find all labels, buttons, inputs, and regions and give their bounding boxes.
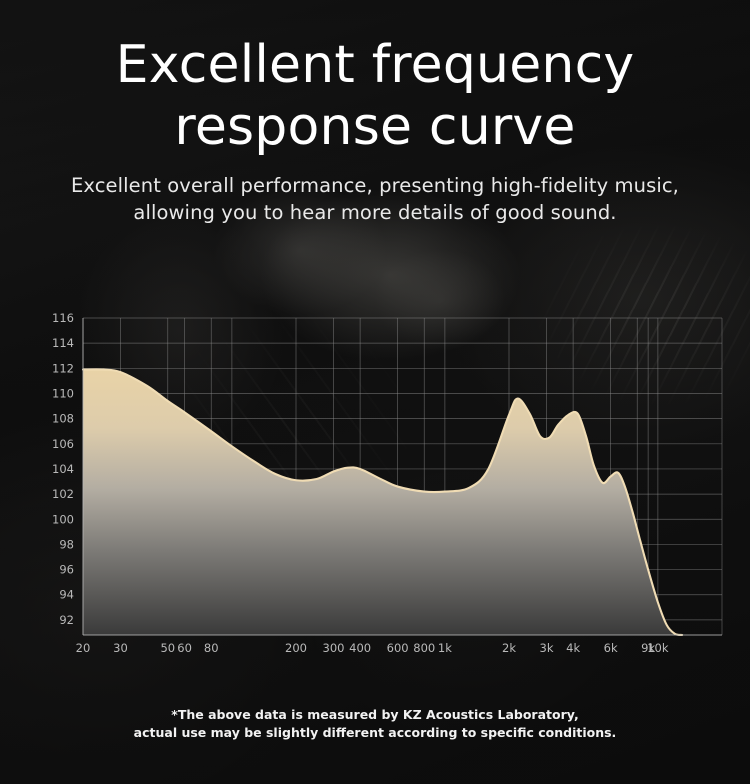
footnote-line-1: *The above data is measured by KZ Acoust… [0, 706, 750, 724]
y-tick-label: 104 [52, 462, 74, 476]
frequency-response-chart: 11611411211010810610410210098969492 2030… [0, 300, 750, 660]
x-tick-label: 10k [647, 641, 669, 655]
x-tick-label: 800 [413, 641, 435, 655]
y-tick-label: 102 [52, 487, 74, 501]
x-tick-label: 20 [76, 641, 91, 655]
footnote-line-2: actual use may be slightly different acc… [0, 724, 750, 742]
x-tick-label: 4k [566, 641, 580, 655]
x-tick-label: 30 [113, 641, 128, 655]
x-tick-label: 80 [204, 641, 219, 655]
y-tick-label: 96 [59, 563, 74, 577]
subtitle-line-2: allowing you to hear more details of goo… [0, 199, 750, 226]
x-tick-label: 6k [604, 641, 618, 655]
x-tick-label: 50 [160, 641, 175, 655]
x-tick-label: 600 [387, 641, 409, 655]
x-axis-tick-labels: 20305060802003004006008001k2k3k4k6k9k10k [76, 641, 669, 655]
header: Excellent frequency response curve Excel… [0, 0, 750, 226]
y-tick-label: 112 [52, 361, 74, 375]
y-tick-label: 100 [52, 512, 74, 526]
x-tick-label: 1k [438, 641, 452, 655]
y-axis-tick-labels: 11611411211010810610410210098969492 [52, 311, 74, 627]
y-tick-label: 108 [52, 412, 74, 426]
title-line-2: response curve [0, 96, 750, 158]
x-tick-label: 200 [285, 641, 307, 655]
y-tick-label: 114 [52, 336, 74, 350]
chart-canvas: 11611411211010810610410210098969492 2030… [0, 300, 750, 660]
x-tick-label: 2k [502, 641, 516, 655]
x-tick-label: 400 [349, 641, 371, 655]
y-tick-label: 94 [59, 588, 74, 602]
page-subtitle: Excellent overall performance, presentin… [0, 172, 750, 226]
x-tick-label: 3k [540, 641, 554, 655]
y-tick-label: 110 [52, 386, 74, 400]
page-title: Excellent frequency response curve [0, 0, 750, 158]
chart-area-fill [83, 369, 682, 635]
title-line-1: Excellent frequency [0, 34, 750, 96]
footnote: *The above data is measured by KZ Acoust… [0, 706, 750, 742]
y-tick-label: 98 [59, 537, 74, 551]
x-tick-label: 60 [177, 641, 192, 655]
x-tick-label: 300 [323, 641, 345, 655]
y-tick-label: 116 [52, 311, 74, 325]
y-tick-label: 106 [52, 437, 74, 451]
subtitle-line-1: Excellent overall performance, presentin… [0, 172, 750, 199]
y-tick-label: 92 [59, 613, 74, 627]
